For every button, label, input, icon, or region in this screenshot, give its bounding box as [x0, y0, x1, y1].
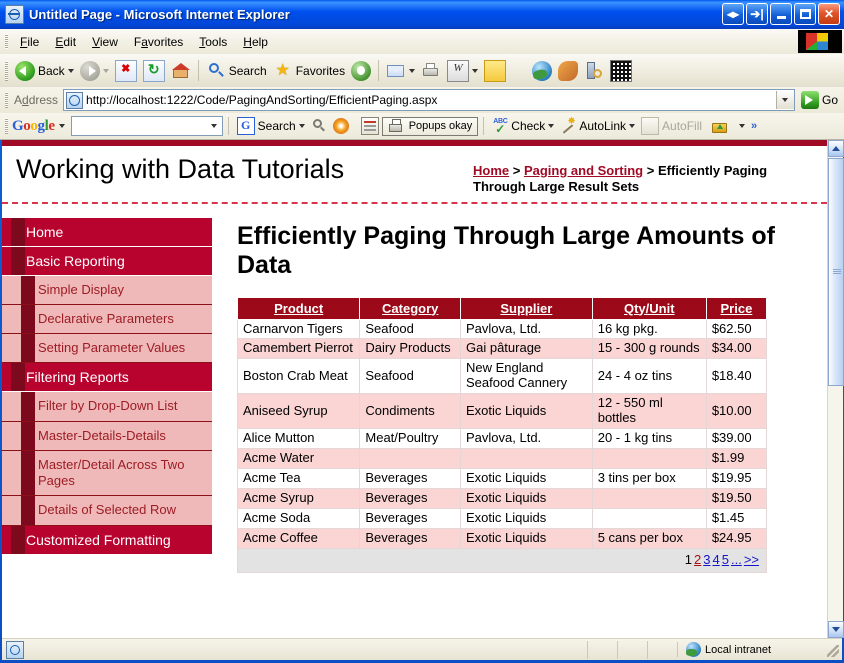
- mail-icon: [386, 61, 406, 81]
- menu-edit[interactable]: Edit: [47, 32, 84, 52]
- google-autolink-button[interactable]: AutoLink: [557, 117, 638, 135]
- cell-supplier: Exotic Liquids: [461, 469, 593, 489]
- home-button[interactable]: [168, 59, 194, 83]
- cell-qty-unit: 5 cans per box: [592, 528, 706, 548]
- cell-category: [360, 449, 461, 469]
- address-input[interactable]: http://localhost:1222/Code/PagingAndSort…: [63, 89, 795, 111]
- sidebar-item-basic-reporting[interactable]: Basic Reporting: [2, 247, 212, 276]
- cell-category: Beverages: [360, 469, 461, 489]
- sidebar-item-label: Filter by Drop-Down List: [38, 398, 177, 413]
- back-icon: [15, 61, 35, 81]
- maximize-button[interactable]: [794, 3, 816, 25]
- chevron-up-icon: [832, 146, 840, 151]
- google-search-input[interactable]: [71, 116, 223, 136]
- google-search-button[interactable]: G Search: [234, 116, 308, 136]
- table-row: Acme Soda Beverages Exotic Liquids $1.45: [238, 508, 767, 528]
- go-label: Go: [822, 93, 838, 107]
- address-bar: Address http://localhost:1222/Code/Pagin…: [0, 87, 844, 114]
- window-title: Untitled Page - Microsoft Internet Explo…: [29, 7, 290, 22]
- home-icon: [171, 61, 191, 81]
- sidebar-item-details-of-selected-row[interactable]: Details of Selected Row: [2, 496, 212, 525]
- windows-flag-logo: [798, 30, 842, 53]
- globe-icon: [532, 61, 552, 81]
- table-row: Camembert Pierrot Dairy Products Gai pât…: [238, 339, 767, 359]
- sidebar-item-label: Declarative Parameters: [38, 311, 174, 326]
- sidebar-item-filter-by-drop-down-list[interactable]: Filter by Drop-Down List: [2, 392, 212, 421]
- page-viewport: Working with Data Tutorials Home > Pagin…: [2, 140, 827, 638]
- scroll-up-button[interactable]: [828, 140, 844, 157]
- table-row: Acme Syrup Beverages Exotic Liquids $19.…: [238, 488, 767, 508]
- notes-icon: [484, 60, 506, 82]
- autolink-caret-icon[interactable]: [629, 124, 635, 128]
- messenger-button[interactable]: [555, 59, 581, 83]
- flag-right: [817, 33, 828, 50]
- print-button[interactable]: [418, 59, 444, 83]
- cell-product: Acme Soda: [238, 508, 360, 528]
- menu-help[interactable]: Help: [235, 32, 276, 52]
- title-bar: Untitled Page - Microsoft Internet Explo…: [0, 0, 844, 29]
- page-vertical-scrollbar[interactable]: [827, 140, 843, 638]
- cell-price: $18.40: [706, 359, 766, 394]
- pager-link-next[interactable]: >>: [744, 552, 759, 567]
- address-dropdown-button[interactable]: [776, 91, 794, 109]
- toolbar-separator-3: [513, 60, 525, 81]
- cell-category: Beverages: [360, 528, 461, 548]
- research-icon: [584, 61, 604, 81]
- web-page: Working with Data Tutorials Home > Pagin…: [2, 140, 827, 573]
- google-search-dropdown-button[interactable]: [206, 118, 222, 134]
- media-icon: [351, 61, 371, 81]
- google-separator: [228, 117, 229, 135]
- cell-price: $39.00: [706, 429, 766, 449]
- google-options-button[interactable]: [709, 118, 748, 135]
- cell-price: $10.00: [706, 394, 766, 429]
- table-row: Alice Mutton Meat/Poultry Pavlova, Ltd. …: [238, 429, 767, 449]
- check-caret-icon[interactable]: [548, 124, 554, 128]
- restore-size-icon: ◂▸: [723, 4, 743, 24]
- cell-price: $19.50: [706, 488, 766, 508]
- cell-price: $1.99: [706, 449, 766, 469]
- search-button[interactable]: Search: [203, 59, 270, 83]
- sidebar-item-home[interactable]: Home: [2, 218, 212, 247]
- cell-category: Meat/Poultry: [360, 429, 461, 449]
- pager-link-4[interactable]: 4: [713, 552, 720, 567]
- forward-icon: [80, 61, 100, 81]
- chevron-down-icon: [211, 124, 217, 128]
- autofill-icon: [641, 117, 659, 135]
- local-intranet-globe-icon: [686, 642, 701, 657]
- grid-header-row: Product Category Supplier Qty/Unit Price: [238, 297, 767, 319]
- google-autofill-button[interactable]: AutoFill: [638, 116, 705, 136]
- minimize-button[interactable]: [770, 3, 792, 25]
- refresh-button[interactable]: [140, 58, 168, 84]
- menu-bar: File Edit View Favorites Tools Help: [0, 29, 844, 55]
- send-to-icon: [712, 119, 728, 134]
- cell-category: Seafood: [360, 319, 461, 339]
- table-row: Acme Coffee Beverages Exotic Liquids 5 c…: [238, 528, 767, 548]
- pager-current-page: 1: [685, 552, 692, 567]
- cell-product: Camembert Pierrot: [238, 339, 360, 359]
- table-row: Acme Tea Beverages Exotic Liquids 3 tins…: [238, 469, 767, 489]
- cell-qty-unit: 15 - 300 g rounds: [592, 339, 706, 359]
- scrollbar-thumb[interactable]: [828, 158, 844, 386]
- search-label: Search: [229, 64, 267, 78]
- address-grip[interactable]: [5, 92, 8, 108]
- breadcrumb-sep-2: >: [643, 163, 658, 178]
- mail-button[interactable]: [383, 59, 418, 83]
- cell-product: Carnarvon Tigers: [238, 319, 360, 339]
- double-chevron-icon: »: [751, 120, 757, 132]
- security-zone-label: Local intranet: [705, 644, 771, 656]
- research-button[interactable]: [581, 59, 607, 83]
- sidebar-item-label: Simple Display: [38, 282, 124, 297]
- column-header-qty-unit[interactable]: Qty/Unit: [592, 297, 706, 319]
- popups-label: Popups okay: [409, 120, 473, 132]
- globe-button[interactable]: [529, 59, 555, 83]
- status-cell-3: [647, 641, 677, 659]
- google-search-label: Search: [258, 119, 296, 133]
- status-cell-2: [617, 641, 647, 659]
- sidebar-item-label: Master-Details-Details: [38, 428, 166, 443]
- sidebar-item-label: Master/Detail Across Two Pages: [38, 457, 184, 488]
- browser-window: Untitled Page - Microsoft Internet Explo…: [0, 0, 844, 663]
- google-spellcheck-button[interactable]: ABC✓ Check: [489, 117, 557, 135]
- page-favicon-icon: [66, 92, 83, 109]
- sidebar-item-label: Details of Selected Row: [38, 502, 176, 517]
- breadcrumb-sep-1: >: [509, 163, 524, 178]
- page-body: Home Basic Reporting Simple Display Decl…: [2, 204, 827, 573]
- cell-price: $1.45: [706, 508, 766, 528]
- print-icon: [421, 61, 441, 81]
- sidebar-item-master-details-details[interactable]: Master-Details-Details: [2, 422, 212, 451]
- page-header: Working with Data Tutorials Home > Pagin…: [2, 146, 827, 204]
- cell-product: Alice Mutton: [238, 429, 360, 449]
- menu-favorites[interactable]: Favorites: [126, 32, 191, 52]
- minimize-icon: [777, 16, 786, 19]
- edit-caret-icon[interactable]: [472, 69, 478, 73]
- page-title: Efficiently Paging Through Large Amounts…: [237, 222, 807, 281]
- tabs-icon: ➔|: [747, 4, 767, 24]
- notes-button[interactable]: [481, 58, 509, 84]
- stop-icon: [115, 60, 137, 82]
- pager-link-5[interactable]: 5: [722, 552, 729, 567]
- autolink-label: AutoLink: [579, 119, 626, 133]
- refresh-icon: [143, 60, 165, 82]
- cell-supplier: Pavlova, Ltd.: [461, 429, 593, 449]
- cell-product: Boston Crab Meat: [238, 359, 360, 394]
- cell-supplier: Exotic Liquids: [461, 394, 593, 429]
- check-label: Check: [511, 119, 545, 133]
- edit-word-icon: [447, 60, 469, 82]
- sidebar-item-setting-parameter-values[interactable]: Setting Parameter Values: [2, 334, 212, 363]
- sidebar-item-label: Customized Formatting: [26, 532, 171, 548]
- sidebar-item-label: Home: [26, 224, 63, 240]
- cell-supplier: Exotic Liquids: [461, 528, 593, 548]
- menu-grip[interactable]: [5, 34, 8, 49]
- column-header-category[interactable]: Category: [360, 297, 461, 319]
- cell-qty-unit: [592, 449, 706, 469]
- edit-word-button[interactable]: [444, 58, 481, 84]
- go-button[interactable]: Go: [795, 91, 844, 109]
- encoding-icon: [610, 60, 632, 82]
- toolbar-separator-2: [378, 60, 379, 81]
- cell-qty-unit: 3 tins per box: [592, 469, 706, 489]
- sidebar-item-label: Setting Parameter Values: [38, 340, 185, 355]
- cell-product: Acme Water: [238, 449, 360, 469]
- cell-supplier: Exotic Liquids: [461, 508, 593, 528]
- menu-tools[interactable]: Tools: [191, 32, 235, 52]
- address-label: Address: [12, 93, 63, 107]
- chevron-down-icon: [832, 627, 840, 632]
- stop-button[interactable]: [112, 58, 140, 84]
- column-header-product[interactable]: Product: [238, 297, 360, 319]
- cell-qty-unit: [592, 508, 706, 528]
- column-header-price[interactable]: Price: [706, 297, 766, 319]
- status-bar: Local intranet: [2, 638, 842, 660]
- navigation-toolbar: Back Search ★ Favorites: [0, 54, 844, 88]
- spellcheck-icon: ABC✓: [492, 118, 508, 134]
- sidebar-item-simple-display[interactable]: Simple Display: [2, 276, 212, 305]
- restore-size-button[interactable]: ◂▸: [722, 3, 744, 25]
- google-g-icon: G: [237, 117, 255, 135]
- google-news-button[interactable]: [358, 116, 382, 136]
- toolbar-grip[interactable]: [5, 61, 8, 81]
- cell-price: $24.95: [706, 528, 766, 548]
- back-label: Back: [38, 64, 65, 78]
- cell-category: Beverages: [360, 508, 461, 528]
- forward-button[interactable]: [77, 59, 112, 83]
- chevron-down-icon: [782, 98, 788, 102]
- status-cell-1: [587, 641, 617, 659]
- google-toolbar-grip[interactable]: [5, 118, 8, 134]
- news-icon: [361, 117, 379, 135]
- pager-link-ellipsis[interactable]: ...: [731, 552, 742, 567]
- cell-qty-unit: 12 - 550 ml bottles: [592, 394, 706, 429]
- security-zone[interactable]: Local intranet: [677, 642, 842, 657]
- autofill-label: AutoFill: [662, 119, 702, 133]
- table-row: Boston Crab Meat Seafood New England Sea…: [238, 359, 767, 394]
- menu-file[interactable]: File: [12, 32, 47, 52]
- cell-price: $34.00: [706, 339, 766, 359]
- magnifier-icon: [311, 118, 327, 134]
- popup-blocker-button[interactable]: Popups okay: [382, 117, 479, 136]
- tabs-button[interactable]: ➔|: [746, 3, 768, 25]
- pagerank-swirl-icon: [333, 118, 349, 134]
- mail-caret-icon[interactable]: [409, 69, 415, 73]
- sidebar-item-master-detail-across-two-pages[interactable]: Master/Detail Across Two Pages: [2, 451, 212, 497]
- messenger-icon: [558, 61, 578, 81]
- table-row: Acme Water $1.99: [238, 449, 767, 469]
- cell-product: Acme Coffee: [238, 528, 360, 548]
- sidebar-nav: Home Basic Reporting Simple Display Decl…: [2, 204, 212, 555]
- options-caret-icon[interactable]: [739, 124, 745, 128]
- cell-supplier: Gai pâturage: [461, 339, 593, 359]
- favorites-button[interactable]: ★ Favorites: [270, 59, 348, 83]
- ie-document-icon: [5, 5, 24, 24]
- window-controls: ◂▸ ➔| ✕: [722, 3, 840, 25]
- google-menu-caret-icon[interactable]: [59, 124, 65, 128]
- table-row: Aniseed Syrup Condiments Exotic Liquids …: [238, 394, 767, 429]
- cell-supplier: [461, 449, 593, 469]
- go-arrow-icon: [801, 91, 819, 109]
- google-overflow-button[interactable]: »: [748, 119, 760, 133]
- google-pagerank-button[interactable]: [330, 117, 352, 135]
- cell-category: Beverages: [360, 488, 461, 508]
- cell-price: $19.95: [706, 469, 766, 489]
- site-title: Working with Data Tutorials: [16, 154, 344, 185]
- address-url-text: http://localhost:1222/Code/PagingAndSort…: [86, 93, 776, 107]
- scroll-down-button[interactable]: [828, 621, 844, 638]
- popup-blocker-icon: [388, 119, 405, 134]
- sidebar-item-declarative-parameters[interactable]: Declarative Parameters: [2, 305, 212, 334]
- resize-grip[interactable]: [827, 645, 839, 657]
- cell-product: Acme Tea: [238, 469, 360, 489]
- toolbar-separator: [198, 60, 199, 81]
- close-button[interactable]: ✕: [818, 3, 840, 25]
- cell-product: Aniseed Syrup: [238, 394, 360, 429]
- google-toolbar: Google G Search Popups okay ABC✓ Check A…: [0, 113, 844, 140]
- menu-view[interactable]: View: [84, 32, 126, 52]
- media-button[interactable]: [348, 59, 374, 83]
- cell-price: $62.50: [706, 319, 766, 339]
- sidebar-item-filtering-reports[interactable]: Filtering Reports: [2, 363, 212, 392]
- cell-category: Condiments: [360, 394, 461, 429]
- back-dropdown-caret-icon[interactable]: [68, 69, 74, 73]
- cell-qty-unit: 20 - 1 kg tins: [592, 429, 706, 449]
- cell-category: Dairy Products: [360, 339, 461, 359]
- grid-body: Carnarvon Tigers Seafood Pavlova, Ltd. 1…: [238, 319, 767, 572]
- cell-supplier: Exotic Liquids: [461, 488, 593, 508]
- column-header-supplier[interactable]: Supplier: [461, 297, 593, 319]
- cell-supplier: New England Seafood Cannery: [461, 359, 593, 394]
- cell-qty-unit: [592, 488, 706, 508]
- pager-link-2[interactable]: 2: [694, 552, 701, 567]
- search-icon: [206, 61, 226, 81]
- sidebar-item-label: Filtering Reports: [26, 369, 129, 385]
- sidebar-item-label: Basic Reporting: [26, 253, 125, 269]
- cell-product: Acme Syrup: [238, 488, 360, 508]
- favorites-star-icon: ★: [273, 61, 293, 81]
- encoding-button[interactable]: [607, 58, 635, 84]
- cell-supplier: Pavlova, Ltd.: [461, 319, 593, 339]
- cell-qty-unit: 24 - 4 oz tins: [592, 359, 706, 394]
- pager-cell: 12345...>>: [238, 548, 767, 572]
- products-grid: Product Category Supplier Qty/Unit Price…: [237, 297, 767, 573]
- autolink-wand-icon: [560, 118, 576, 134]
- maximize-icon: [800, 9, 811, 19]
- google-highlight-button[interactable]: [308, 117, 330, 135]
- cell-category: Seafood: [360, 359, 461, 394]
- breadcrumb: Home > Paging and Sorting > Efficiently …: [473, 154, 813, 196]
- main-content: Efficiently Paging Through Large Amounts…: [212, 204, 827, 573]
- breadcrumb-link-home[interactable]: Home: [473, 163, 509, 178]
- pager-link-3[interactable]: 3: [703, 552, 710, 567]
- google-search-caret-icon[interactable]: [299, 124, 305, 128]
- cell-qty-unit: 16 kg pkg.: [592, 319, 706, 339]
- favorites-label: Favorites: [296, 64, 345, 78]
- pager-row: 12345...>>: [238, 548, 767, 572]
- status-page-icon: [6, 641, 24, 659]
- google-separator-2: [483, 117, 484, 135]
- table-row: Carnarvon Tigers Seafood Pavlova, Ltd. 1…: [238, 319, 767, 339]
- google-logo: Google: [12, 118, 55, 135]
- back-button[interactable]: Back: [12, 59, 77, 83]
- forward-dropdown-caret-icon[interactable]: [103, 69, 109, 73]
- sidebar-item-customized-formatting[interactable]: Customized Formatting: [2, 526, 212, 555]
- close-icon: ✕: [819, 4, 839, 24]
- breadcrumb-link-section[interactable]: Paging and Sorting: [524, 163, 643, 178]
